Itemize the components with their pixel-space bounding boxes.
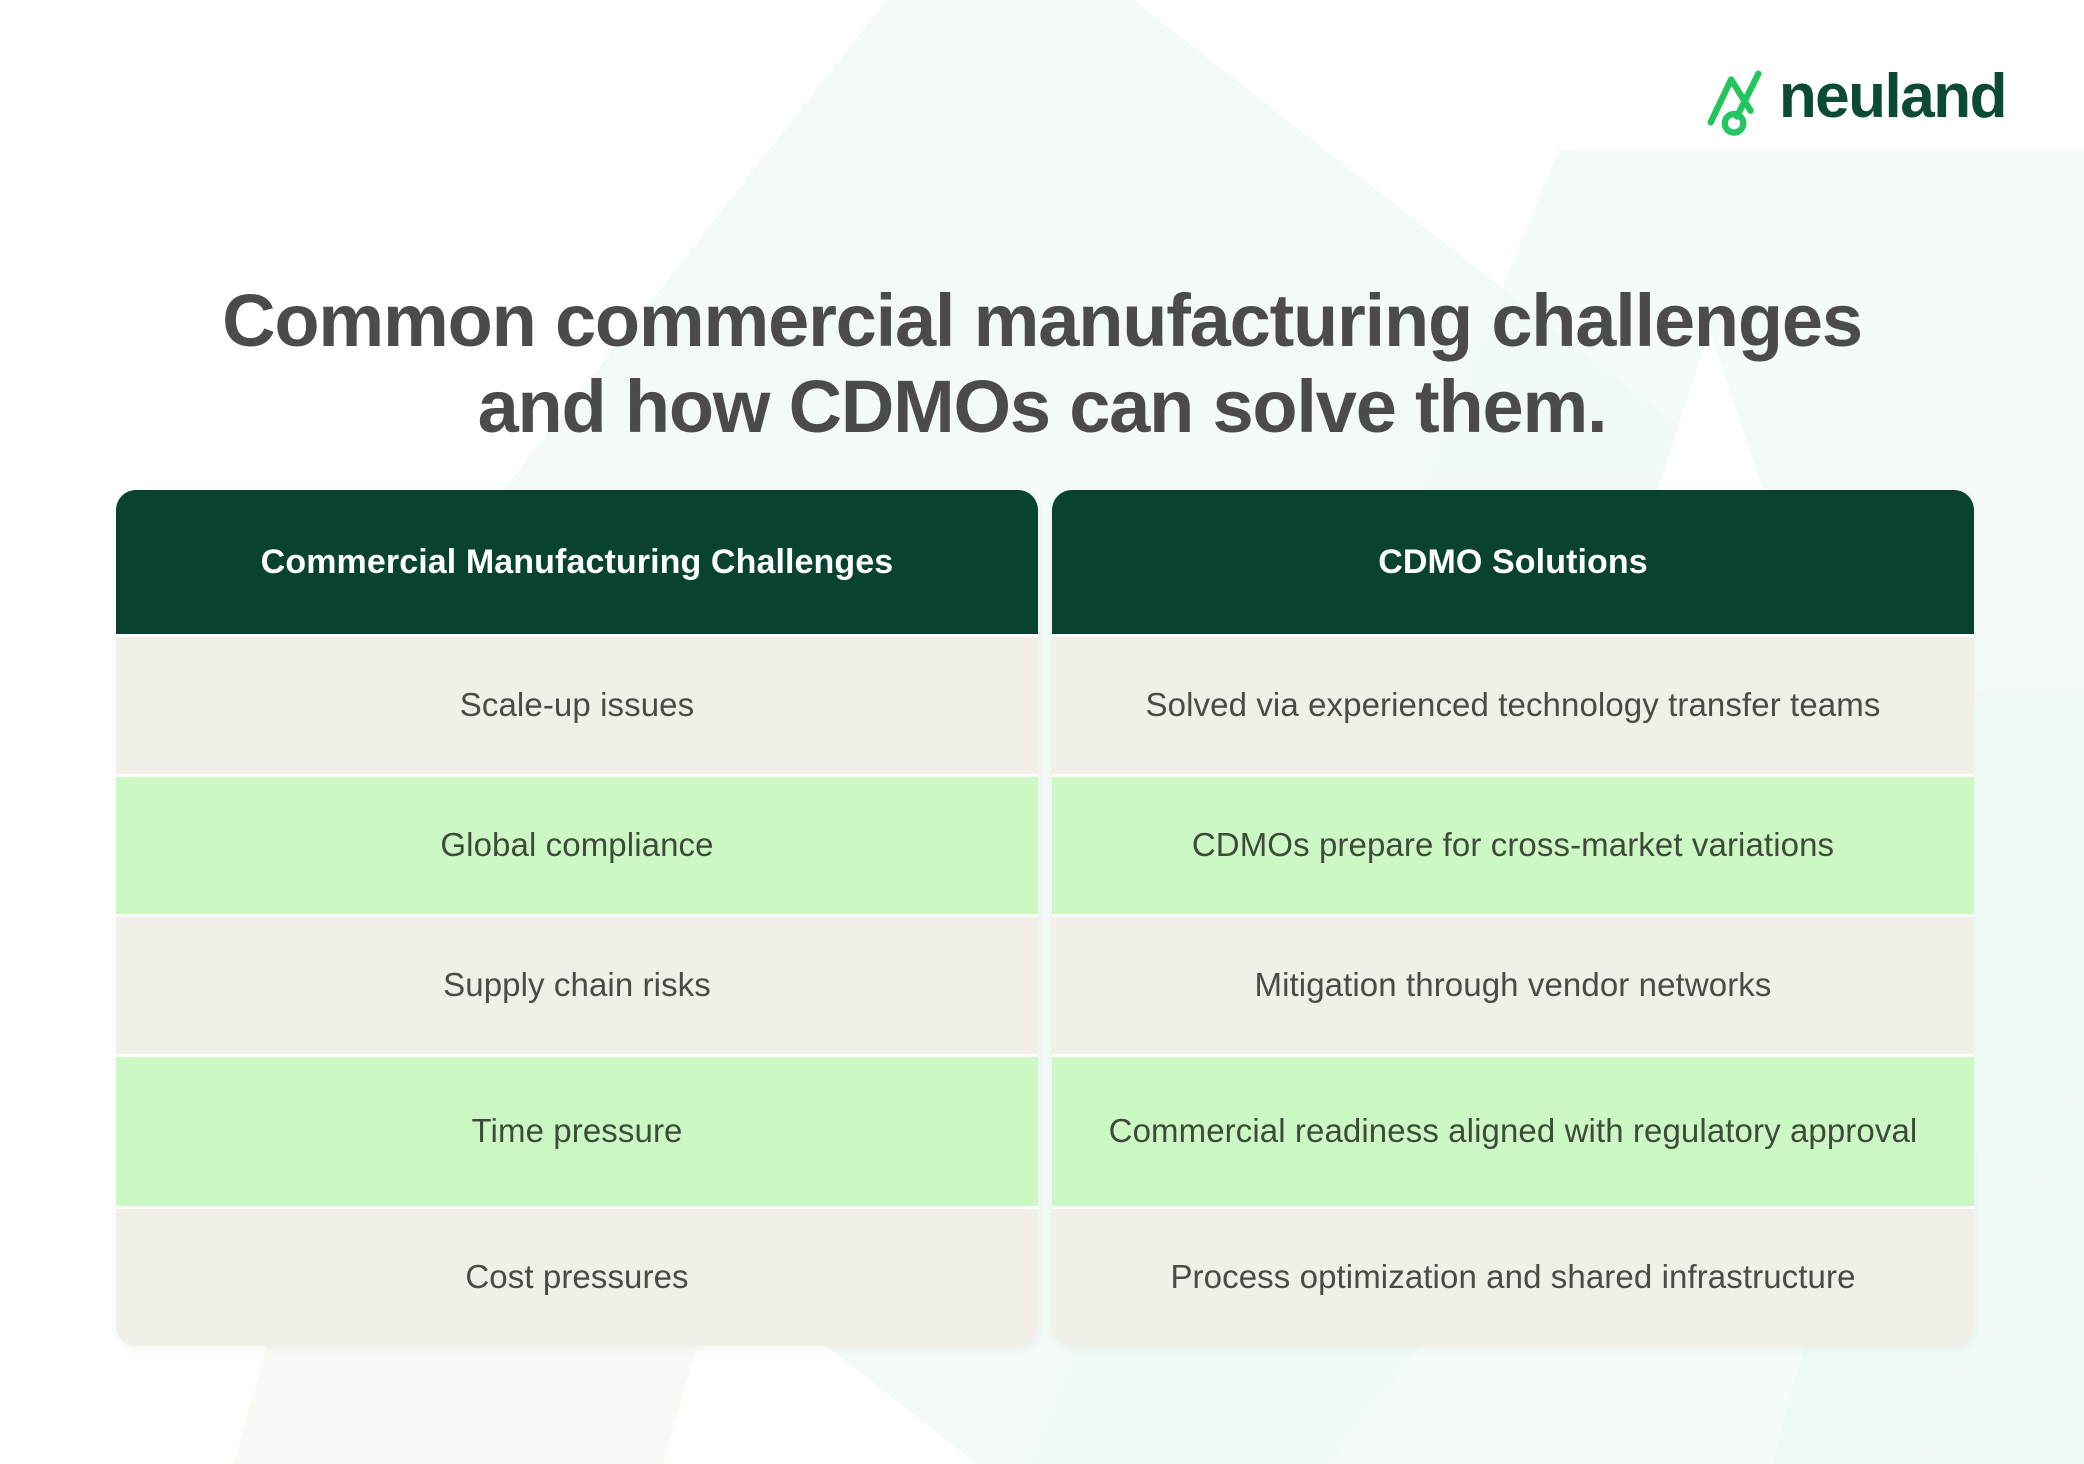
challenges-column: Commercial Manufacturing Challenges Scal… xyxy=(116,490,1038,1346)
table-cell-solution: Commercial readiness aligned with regula… xyxy=(1052,1054,1974,1206)
table-cell-challenge: Supply chain risks xyxy=(116,914,1038,1054)
table-cell-solution: CDMOs prepare for cross-market variation… xyxy=(1052,774,1974,914)
challenges-column-header: Commercial Manufacturing Challenges xyxy=(116,490,1038,634)
table-cell-solution: Process optimization and shared infrastr… xyxy=(1052,1206,1974,1346)
table-cell-challenge: Cost pressures xyxy=(116,1206,1038,1346)
comparison-table: Commercial Manufacturing Challenges Scal… xyxy=(116,490,1974,1346)
neuland-logo-mark-icon xyxy=(1707,62,1765,136)
brand-logo: neuland xyxy=(1707,62,2006,136)
table-cell-challenge: Scale-up issues xyxy=(116,634,1038,774)
solutions-column-header: CDMO Solutions xyxy=(1052,490,1974,634)
page-title: Common commercial manufacturing challeng… xyxy=(182,278,1902,451)
table-cell-challenge: Global compliance xyxy=(116,774,1038,914)
table-cell-challenge: Time pressure xyxy=(116,1054,1038,1206)
solutions-column: CDMO Solutions Solved via experienced te… xyxy=(1052,490,1974,1346)
brand-wordmark: neuland xyxy=(1779,66,2006,132)
table-cell-solution: Solved via experienced technology transf… xyxy=(1052,634,1974,774)
table-cell-solution: Mitigation through vendor networks xyxy=(1052,914,1974,1054)
